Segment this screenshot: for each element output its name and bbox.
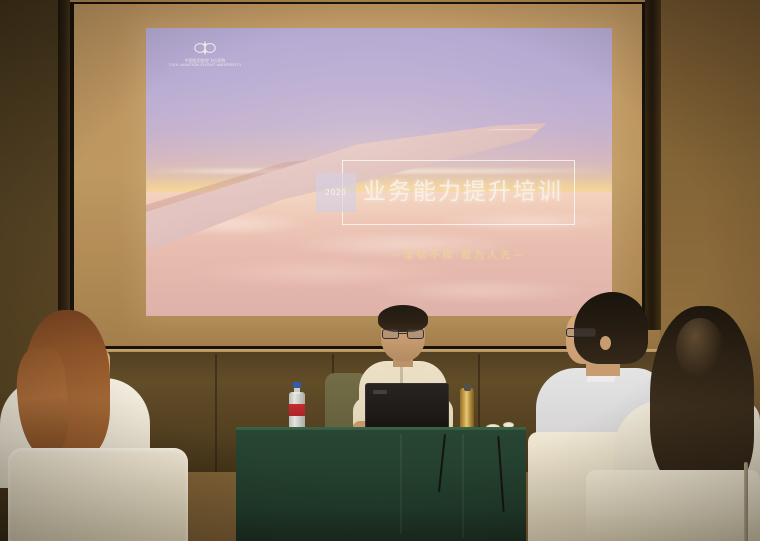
cloth-fold <box>462 434 464 538</box>
cloth-fold <box>400 434 402 534</box>
projected-slide: 中国民用航空飞行学院 CIVIL AVIATION FLIGHT UNIVERS… <box>146 28 612 316</box>
attendee-right-woman-chair <box>586 470 760 541</box>
attendee-left-woman-chair <box>8 448 188 541</box>
abstract-cloud-logo-icon <box>192 40 218 56</box>
slide-logo-caption-en: CIVIL AVIATION FLIGHT UNIVERSITY <box>169 63 242 69</box>
laptop-screen-lid <box>365 383 449 430</box>
water-bottle-cap <box>293 382 301 388</box>
water-bottle <box>289 382 305 432</box>
conference-room-photo: 中国民用航空飞行学院 CIVIL AVIATION FLIGHT UNIVERS… <box>0 0 760 541</box>
slide-logo: 中国民用航空飞行学院 CIVIL AVIATION FLIGHT UNIVERS… <box>176 40 234 68</box>
table-cloth <box>236 430 526 541</box>
slide-year-badge: 2020 <box>316 173 356 212</box>
presenter-eyeglasses-icon <box>382 329 424 339</box>
slide-title: 业务能力提升培训 <box>351 172 575 206</box>
chair-support-rod <box>744 462 748 541</box>
wainscot-seam <box>215 354 217 472</box>
laptop-brand-logo <box>373 390 387 394</box>
attendee-right-man-eyeglasses-icon <box>566 328 596 337</box>
right-dark-column <box>645 0 661 330</box>
water-bottle-label <box>289 404 305 416</box>
presenter-hair <box>378 305 428 332</box>
attendee-right-man-ear <box>600 336 611 350</box>
thermos-cap <box>464 384 471 391</box>
thermos-flask <box>460 388 474 432</box>
attendee-right-woman-hair-highlight <box>676 318 724 378</box>
slide-subtitle: —坚韧不拔 敢为人先— <box>342 247 575 262</box>
